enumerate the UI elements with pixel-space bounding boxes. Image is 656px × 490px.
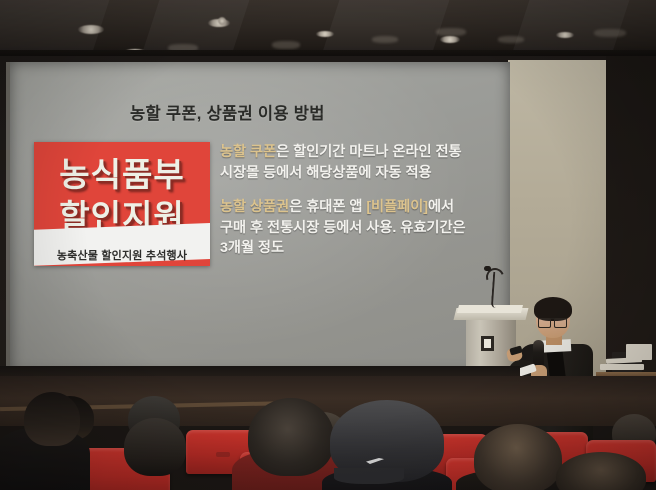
- auditorium-photo: 농할 쿠폰, 상품권 이용 방법 농식품부 할인지원 농축산물 할인지원 추석행…: [0, 0, 656, 490]
- audience-head: [248, 398, 334, 476]
- highlighted-term: 농할 쿠폰: [220, 144, 276, 160]
- podium-nameplate: [457, 305, 523, 313]
- slide-body-text: 농할 쿠폰은 할인기간 마트나 온라인 전통시장몰 등에서 해당상품에 자동 적…: [220, 142, 512, 273]
- ministry-logo-box: 농식품부 할인지원 농축산물 할인지원 추석행사: [34, 142, 210, 266]
- logo-caption: 농축산물 할인지원 추석행사: [34, 247, 210, 263]
- slide-text-line: 농할 상품권은 휴대폰 앱 [비플페이]에서: [220, 197, 512, 218]
- podium-emblem-mark: [484, 339, 491, 348]
- podium-emblem: [481, 336, 494, 351]
- slide-text-run: 구매 후 전통시장 등에서 사용. 유효기간은: [220, 220, 466, 236]
- microphone-icon: [484, 266, 491, 271]
- audience-head: [24, 392, 80, 446]
- slide-text-line: 구매 후 전통시장 등에서 사용. 유효기간은: [220, 218, 512, 239]
- audience-head: [474, 424, 562, 490]
- baseball-cap-brim: [334, 468, 404, 484]
- eyeglass-lens-left: [538, 318, 551, 328]
- slide-text-line: 농할 쿠폰은 할인기간 마트나 온라인 전통: [220, 142, 512, 163]
- slide-text-run: 3개월 정도: [220, 240, 284, 256]
- highlighted-term: 농할 상품권: [220, 199, 289, 215]
- slide-paragraph: 농할 쿠폰은 할인기간 마트나 온라인 전통시장몰 등에서 해당상품에 자동 적…: [220, 142, 512, 183]
- slide-text-run: 은 휴대폰 앱: [289, 199, 366, 215]
- eyeglass-lens-right: [554, 318, 567, 328]
- paper-stack: [600, 364, 644, 370]
- logo-line-1: 농식품부: [34, 148, 210, 196]
- slide-text-run: 은 할인기간 마트나 온라인 전통: [276, 144, 461, 160]
- slide-text-run: 에서: [428, 199, 454, 215]
- wall-panel-dark: [606, 56, 656, 378]
- slide-paragraph: 농할 상품권은 휴대폰 앱 [비플페이]에서구매 후 전통시장 등에서 사용. …: [220, 197, 512, 259]
- paper-stack: [626, 344, 652, 360]
- slide-text-run: 시장몰 등에서 해당상품에 자동 적용: [220, 165, 432, 181]
- slide-title: 농할 쿠폰, 상품권 이용 방법: [130, 100, 430, 124]
- seat-latch: [216, 452, 230, 457]
- slide-text-line: 3개월 정도: [220, 238, 512, 259]
- audience-head: [124, 418, 186, 476]
- highlighted-term: [비플페이]: [366, 199, 428, 215]
- slide-text-line: 시장몰 등에서 해당상품에 자동 적용: [220, 163, 512, 184]
